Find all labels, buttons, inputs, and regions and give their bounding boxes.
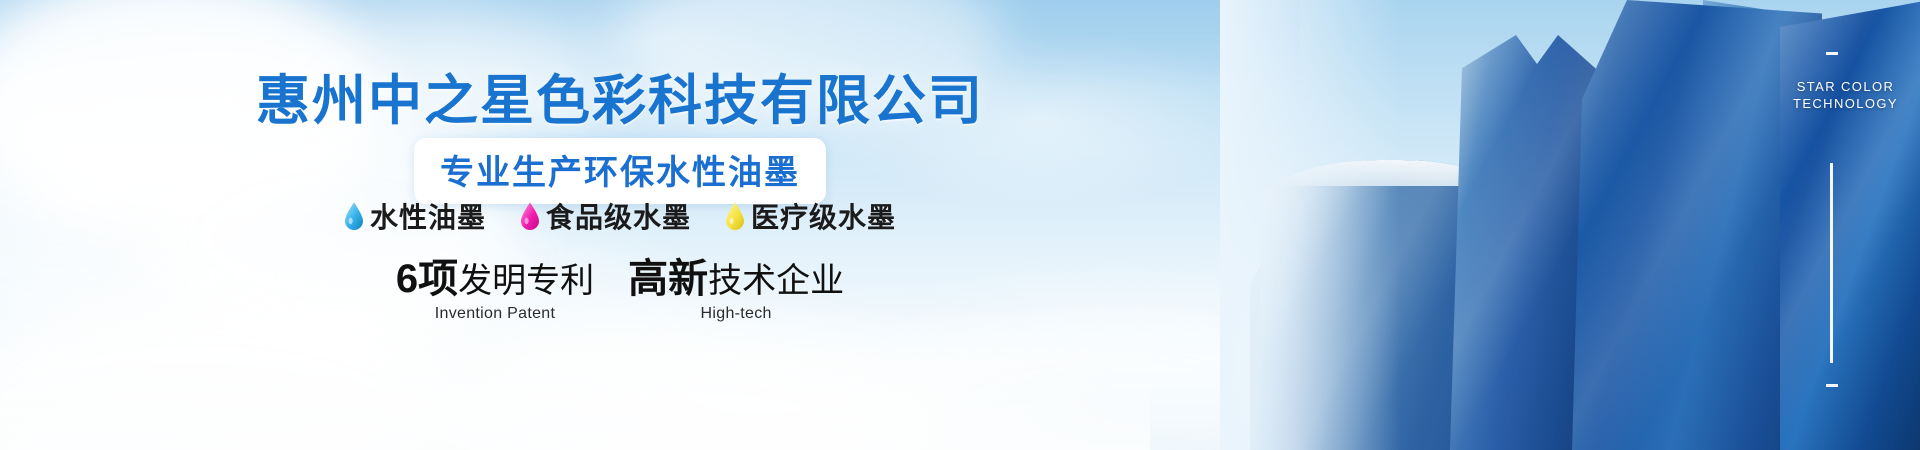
label-rule-top xyxy=(1826,52,1838,55)
feature-label: 医疗级水墨 xyxy=(751,196,896,236)
badge-cn-strong: 高新 xyxy=(628,257,708,301)
credential-badges: 6项发明专利 Invention Patent 高新技术企业 High-tech xyxy=(0,258,1240,323)
water-drop-icon xyxy=(725,202,745,230)
feature-item: 水性油墨 xyxy=(344,196,486,236)
feature-list: 水性油墨 食品级水墨 xyxy=(0,196,1240,236)
badge-high-tech: 高新技术企业 High-tech xyxy=(628,258,844,323)
label-rule-bottom xyxy=(1826,384,1838,387)
water-drop-icon xyxy=(344,202,364,230)
skyscraper-photo: STAR COLOR TECHNOLOGY xyxy=(1220,0,1920,450)
badge-cn-rest: 技术企业 xyxy=(708,262,844,300)
company-title: 惠州中之星色彩科技有限公司 xyxy=(0,56,1240,135)
label-rule-vertical xyxy=(1830,163,1833,363)
tagline-pill: 专业生产环保水性油墨 xyxy=(414,138,826,204)
building-right-tower xyxy=(1780,0,1920,450)
feature-item: 医疗级水墨 xyxy=(725,196,896,236)
badge-cn-rest: 发明专利 xyxy=(458,262,594,300)
badge-invention-patent: 6项发明专利 Invention Patent xyxy=(396,258,594,323)
badge-cn-line: 高新技术企业 xyxy=(628,258,844,301)
badge-cn-strong: 6项 xyxy=(396,257,458,301)
badge-en-line: Invention Patent xyxy=(396,305,594,323)
tagline-wrapper: 专业生产环保水性油墨 xyxy=(0,138,1240,204)
feature-label: 食品级水墨 xyxy=(546,196,691,236)
tower-brand-line2: TECHNOLOGY xyxy=(1793,95,1898,112)
promotional-banner: Star Color STAR COLOR TECHNOLOGY 惠州中之星色彩… xyxy=(0,0,1920,450)
photo-edge-fade xyxy=(1220,0,1400,450)
feature-item: 食品级水墨 xyxy=(520,196,691,236)
tower-brand-line1: STAR COLOR xyxy=(1793,78,1898,95)
water-drop-icon xyxy=(520,202,540,230)
tower-brand-label: STAR COLOR TECHNOLOGY xyxy=(1793,78,1898,112)
banner-content: 惠州中之星色彩科技有限公司 专业生产环保水性油墨 水性油墨 xyxy=(0,0,1240,450)
badge-en-line: High-tech xyxy=(628,305,844,323)
feature-label: 水性油墨 xyxy=(370,196,486,236)
badge-cn-line: 6项发明专利 xyxy=(396,258,594,301)
